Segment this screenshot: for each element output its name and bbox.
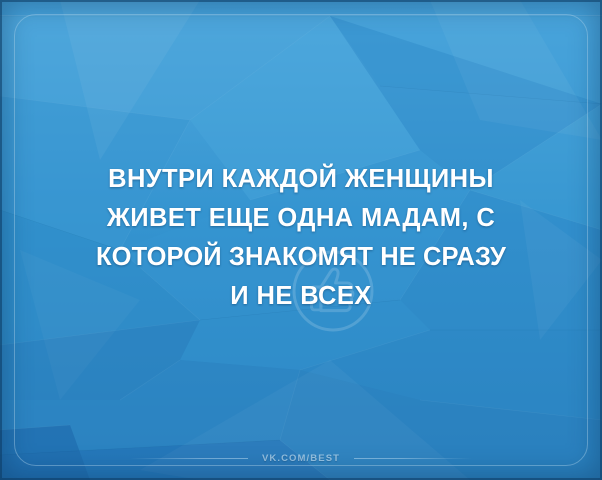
quote-text: ВНУТРИ КАЖДОЙ ЖЕНЩИНЫ ЖИВЕТ ЕЩЕ ОДНА МАД… <box>0 160 602 316</box>
quote-line-4: И НЕ ВСЕХ <box>0 277 602 316</box>
quote-line-3: КОТОРОЙ ЗНАКОМЯТ НЕ СРАЗУ <box>0 238 602 277</box>
quote-line-2: ЖИВЕТ ЕЩЕ ОДНА МАДАМ, С <box>0 199 602 238</box>
quote-card: ВНУТРИ КАЖДОЙ ЖЕНЩИНЫ ЖИВЕТ ЕЩЕ ОДНА МАД… <box>0 0 602 480</box>
quote-line-1: ВНУТРИ КАЖДОЙ ЖЕНЩИНЫ <box>0 160 602 199</box>
